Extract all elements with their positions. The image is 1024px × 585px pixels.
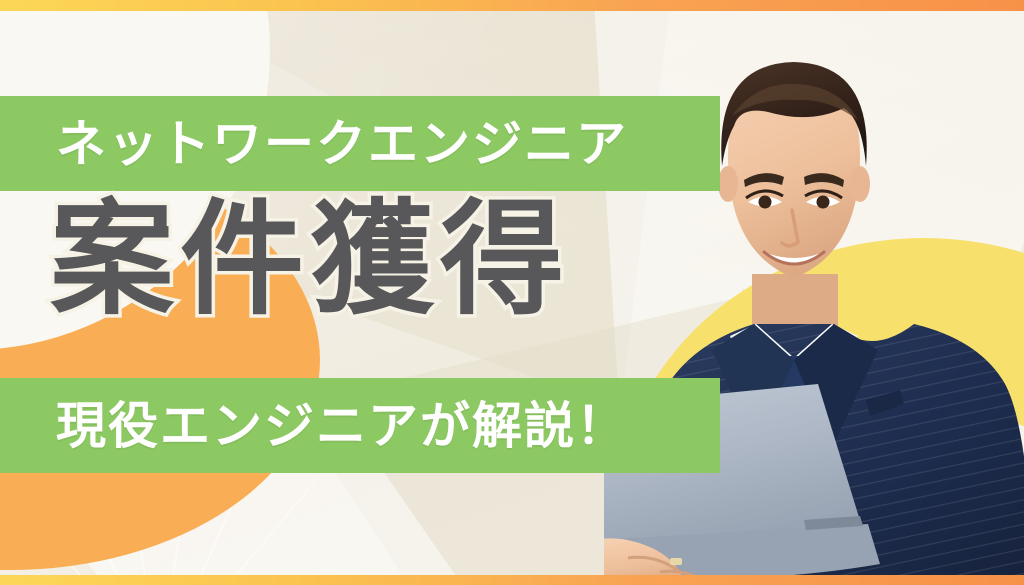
pupil-right xyxy=(817,196,830,209)
bottom-accent-rule xyxy=(0,575,1024,585)
ear-left xyxy=(718,166,738,202)
ear-right xyxy=(850,166,870,202)
page-title: 案件獲得 xyxy=(50,198,570,322)
pupil-left xyxy=(759,196,772,209)
banner-image: ネットワークエンジニア 案件獲得 現役エンジニアが解説！ xyxy=(0,0,1024,585)
band-top-label: ネットワークエンジニア xyxy=(56,119,628,169)
band-bottom-label: 現役エンジニアが解説！ xyxy=(56,401,628,451)
band-network-engineer: ネットワークエンジニア xyxy=(0,96,720,191)
ring xyxy=(670,558,682,565)
band-engineer-explains: 現役エンジニアが解説！ xyxy=(0,378,720,473)
top-accent-rule xyxy=(0,0,1024,11)
